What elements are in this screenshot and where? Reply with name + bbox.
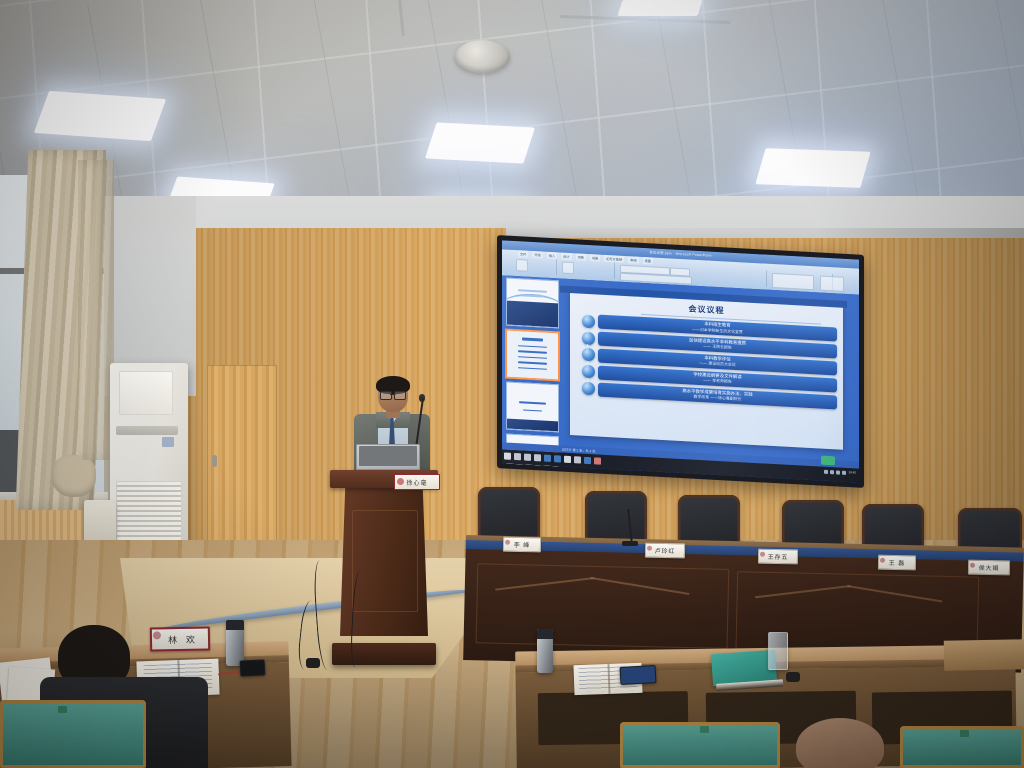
task-view-icon[interactable] [524,454,531,461]
keyring [786,672,800,682]
table-panel-detail [476,563,730,649]
table-nameplate: 李 峰 [503,537,541,553]
thermos-flask [537,629,553,673]
agenda-bullet-icon [582,331,595,345]
ac-top-vent [119,371,173,415]
current-slide[interactable]: 会议议程 本科招生教育 ——对本学院新生的文化宣贯 [570,291,843,450]
notification-badge[interactable] [821,456,835,466]
audience-seat-left[interactable] [0,700,146,768]
thermos-cap [537,629,553,639]
taskbar-app-icons[interactable] [504,452,601,464]
podium-nameplate-logo-icon [397,478,404,485]
presentation-display[interactable]: 会议议程.pptx - Microsoft PowerPoint 文件 开始 插… [497,235,864,488]
agenda-bullet-icon [582,314,595,328]
table-nameplate: 王 磊 [878,555,916,571]
table-nameplate: 侯大娟 [968,560,1010,576]
seat-number-badge [960,730,969,737]
agenda-bullet-icon [582,382,595,396]
table-nameplate: 卢玲红 [645,543,685,559]
agenda-bullet-icon [582,348,595,362]
ribbon-button-newslide-icon[interactable] [562,262,574,275]
nameplate-logo-icon [505,540,510,545]
ac-control-strip [116,426,178,435]
powerpoint-workspace: 会议议程 本科招生教育 ——对本学院新生的文化宣贯 [502,275,859,468]
nameplate-logo-icon [647,546,652,551]
ceiling-speaker-icon [455,40,510,73]
network-icon[interactable] [824,470,828,474]
search-icon[interactable] [514,453,521,460]
person-head [796,718,884,768]
slide-editing-stage[interactable]: 会议议程 本科招生教育 ——对本学院新生的文化宣贯 [560,280,847,464]
side-door [207,365,277,555]
slide-thumbnail-2[interactable] [506,330,559,381]
nameplate-name: 王存五 [768,552,789,561]
nameplate-logo-icon [880,558,885,563]
desk-edge-right [944,639,1024,670]
nameplate-name: 李 峰 [514,540,530,549]
curtain-secondary [78,160,114,460]
explorer-icon[interactable] [534,454,541,461]
slide-thumbnail-panel[interactable] [506,278,557,449]
thumb-title-line [518,289,547,292]
ceiling-light-panel [755,148,870,188]
floor-connector-box [306,658,320,668]
curtain-tieback [52,455,96,497]
table-microphone-base [622,541,638,546]
smartphone[interactable] [240,659,266,676]
nameplate-logo-icon [970,563,975,568]
conference-room-photo: 会议议程.pptx - Microsoft PowerPoint 文件 开始 插… [0,0,1024,768]
mail-icon[interactable] [554,455,561,462]
display-content: 会议议程.pptx - Microsoft PowerPoint 文件 开始 插… [502,240,859,482]
nameplate-name: 侯大娟 [979,563,1000,572]
ceiling-light-panel [425,122,535,163]
table-nameplate: 王存五 [758,549,798,565]
agenda-list: 本科招生教育 ——对本学院新生的文化宣贯 加快建设高水平本科教育提质 —— 王院… [582,314,837,446]
nameplate-name: 王 磊 [889,558,905,567]
nameplate-name: 卢玲红 [655,546,676,555]
smartphone[interactable] [620,665,657,685]
ribbon-button-paste-icon[interactable] [516,259,528,272]
glasses-icon [380,391,406,398]
podium-base [332,643,436,665]
taskbar-system-tray[interactable]: 10:42 [824,470,856,476]
ribbon-shapes-gallery[interactable] [772,273,814,290]
taskbar-clock[interactable]: 10:42 [848,471,856,475]
podium: 徐心毫 [330,470,438,665]
glass-cup [768,632,788,670]
edge-icon[interactable] [544,455,551,462]
podium-nameplate: 徐心毫 [394,474,440,490]
camera-icon[interactable] [574,456,581,463]
seat-number-badge [58,706,67,713]
slide-thumbnail-1[interactable] [506,278,559,329]
laptop-lid [356,444,420,470]
cloud-icon[interactable] [842,471,846,475]
phone-screen [241,660,265,675]
laptop-screen [359,446,417,466]
app-icon[interactable] [594,457,601,464]
nameplate-logo-icon [760,552,765,557]
thumb-footer [507,418,558,431]
audience-person-right [786,718,906,768]
browser-icon[interactable] [584,457,591,464]
folder-icon[interactable] [564,456,571,463]
phone-screen [621,666,656,684]
seat-number-badge [700,726,709,733]
thermos-cap [226,620,244,630]
podium-nameplate-name: 徐心毫 [406,478,427,487]
start-icon[interactable] [504,452,511,459]
volume-icon[interactable] [830,470,834,474]
ac-badge [162,437,174,447]
slide-thumbnail-3[interactable] [506,382,559,433]
thermos-flask [226,620,244,666]
agenda-bullet-icon [582,365,595,379]
powerpoint-title: 会议议程.pptx - Microsoft PowerPoint [649,249,711,257]
ribbon-arrange-button[interactable] [820,276,844,292]
ceiling-light-panel [617,0,702,16]
input-method-icon[interactable] [836,470,840,474]
ceiling-light-panel [34,91,166,141]
door-knob-icon[interactable] [212,455,217,467]
